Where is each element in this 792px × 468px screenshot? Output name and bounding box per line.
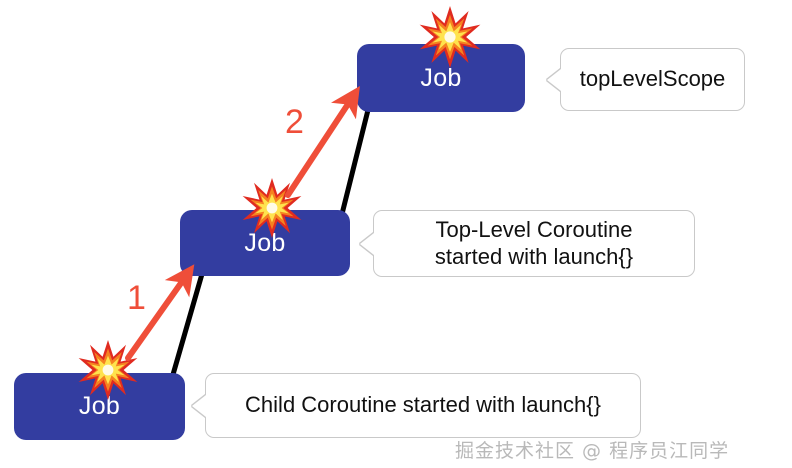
- connector-line-top-to-mid: [342, 110, 368, 214]
- diagram-canvas: 2 1 Job Job Job topLevelScope Top-Le: [0, 0, 792, 468]
- callout-tail-icon: [192, 395, 206, 417]
- callout-tail-cover: [374, 233, 377, 255]
- connector-line-mid-to-bottom: [172, 274, 202, 378]
- callout-tail-cover: [206, 395, 209, 417]
- callout-child-coroutine: Child Coroutine started with launch{}: [205, 373, 641, 438]
- callout-tail-icon: [547, 69, 561, 91]
- job-node-child[interactable]: Job: [14, 373, 185, 440]
- job-node-label: Job: [244, 231, 285, 256]
- callout-tail-cover: [561, 69, 564, 91]
- callout-text: Child Coroutine started with launch{}: [231, 392, 615, 419]
- callout-top-level-coroutine: Top-Level Coroutine started with launch{…: [373, 210, 695, 277]
- job-node-top-level[interactable]: Job: [357, 44, 525, 112]
- callout-tail-icon: [360, 233, 374, 255]
- job-node-middle[interactable]: Job: [180, 210, 350, 276]
- callout-top-level-scope: topLevelScope: [560, 48, 745, 111]
- job-node-label: Job: [420, 66, 461, 91]
- arrow-1-label: 1: [127, 281, 146, 315]
- callout-text: Top-Level Coroutine started with launch{…: [421, 217, 647, 271]
- job-node-label: Job: [79, 394, 120, 419]
- callout-text: topLevelScope: [566, 66, 740, 93]
- arrow-2-label: 2: [285, 105, 304, 139]
- watermark: 掘金技术社区 @ 程序员江同学: [455, 436, 729, 463]
